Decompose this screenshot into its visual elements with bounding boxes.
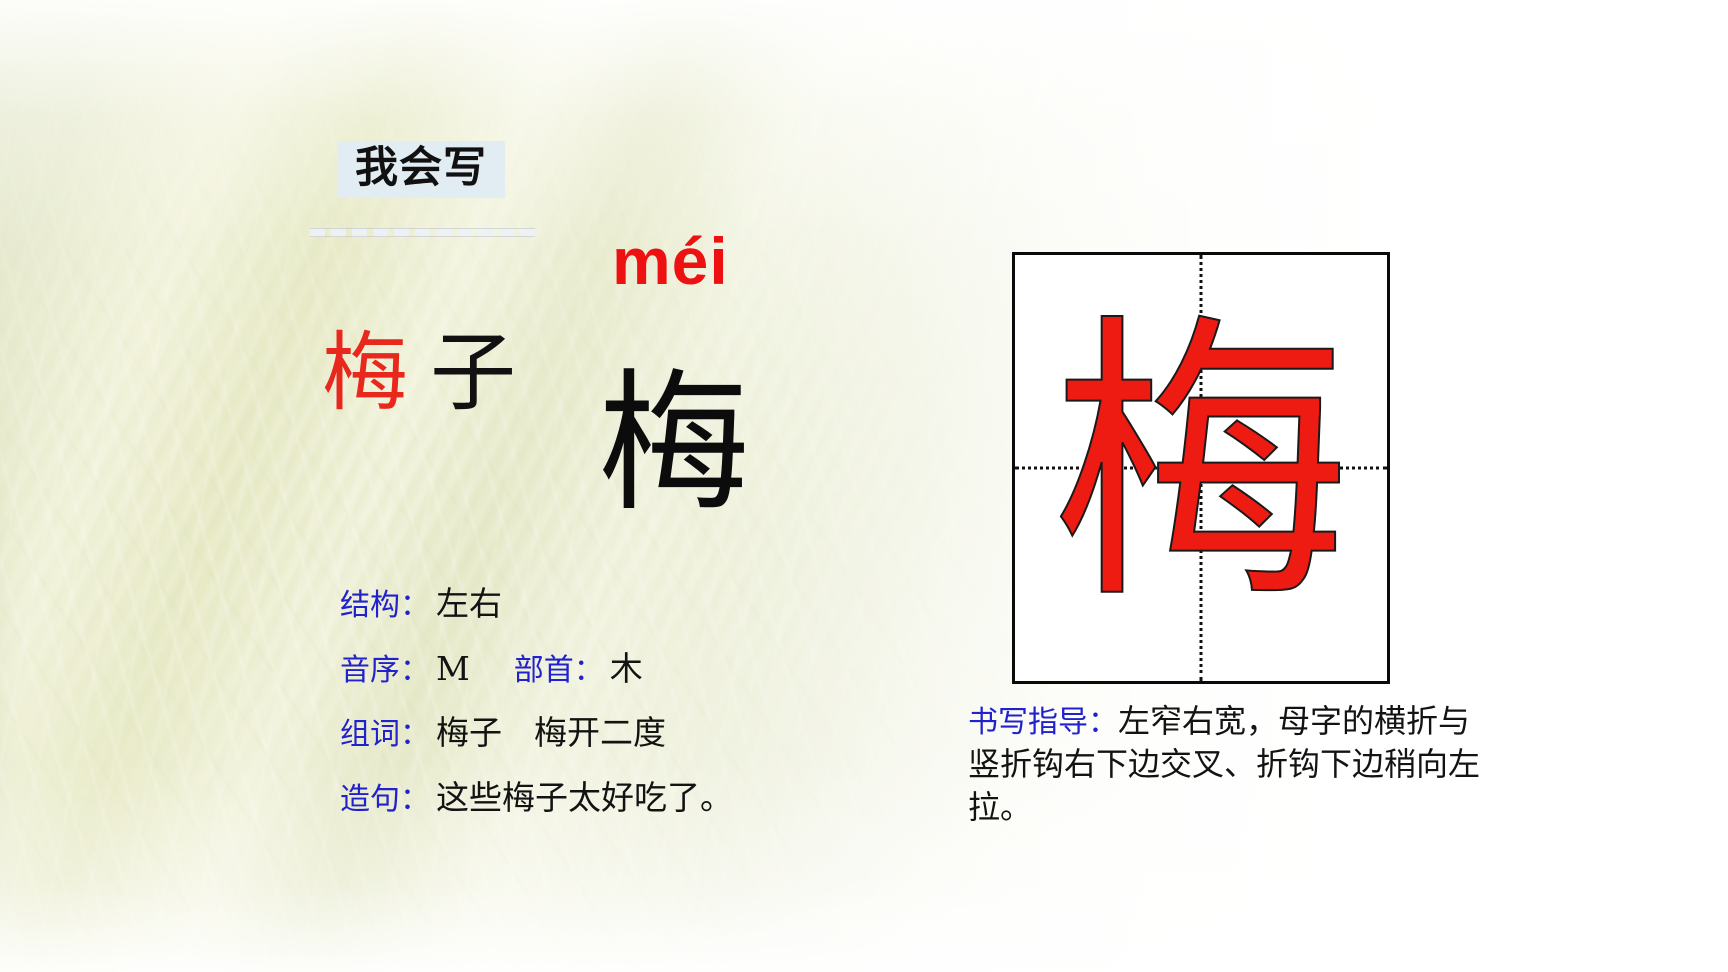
large-character-display: 梅 [598, 368, 750, 520]
word-sample-char-black: 子 [430, 323, 516, 423]
initial-label: 音序： [340, 653, 430, 688]
words-value-first: 梅子 [436, 713, 502, 752]
tianzige-grid: 梅 [1012, 252, 1390, 684]
structure-label: 结构： [340, 588, 430, 623]
writing-guidance: 书写指导：左窄右宽，母字的横折与竖折钩右下边交叉、折钩下边稍向左拉。 [968, 700, 1488, 829]
structure-value: 左右 [436, 584, 502, 623]
grid-character: 梅 [1015, 255, 1387, 681]
radical-value: 木 [610, 649, 643, 688]
info-row-words: 组词：梅子梅开二度 [340, 714, 880, 753]
word-sample-char-red: 梅 [322, 323, 408, 423]
title-dashed-underline [310, 228, 535, 237]
info-row-structure: 结构：左右 [340, 585, 880, 624]
section-title: 我会写 [337, 141, 505, 198]
info-row-initial-radical: 音序：M部首：木 [340, 650, 880, 689]
radical-label: 部首： [514, 653, 604, 688]
sentence-value: 这些梅子太好吃了。 [436, 778, 733, 817]
slide-canvas: 我会写 méi 梅子 梅 结构：左右 音序：M部首：木 组词：梅子梅开二度 造句… [0, 0, 1728, 972]
sentence-label: 造句： [340, 782, 430, 817]
words-value-second: 梅开二度 [534, 713, 666, 752]
writing-guidance-label: 书写指导： [968, 705, 1118, 740]
initial-value: M [436, 649, 470, 688]
character-info-list: 结构：左右 音序：M部首：木 组词：梅子梅开二度 造句：这些梅子太好吃了。 [340, 585, 880, 843]
words-label: 组词： [340, 717, 430, 752]
word-sample: 梅子 [322, 330, 516, 416]
info-row-sentence: 造句：这些梅子太好吃了。 [340, 779, 880, 818]
pinyin-text: méi [612, 228, 729, 294]
